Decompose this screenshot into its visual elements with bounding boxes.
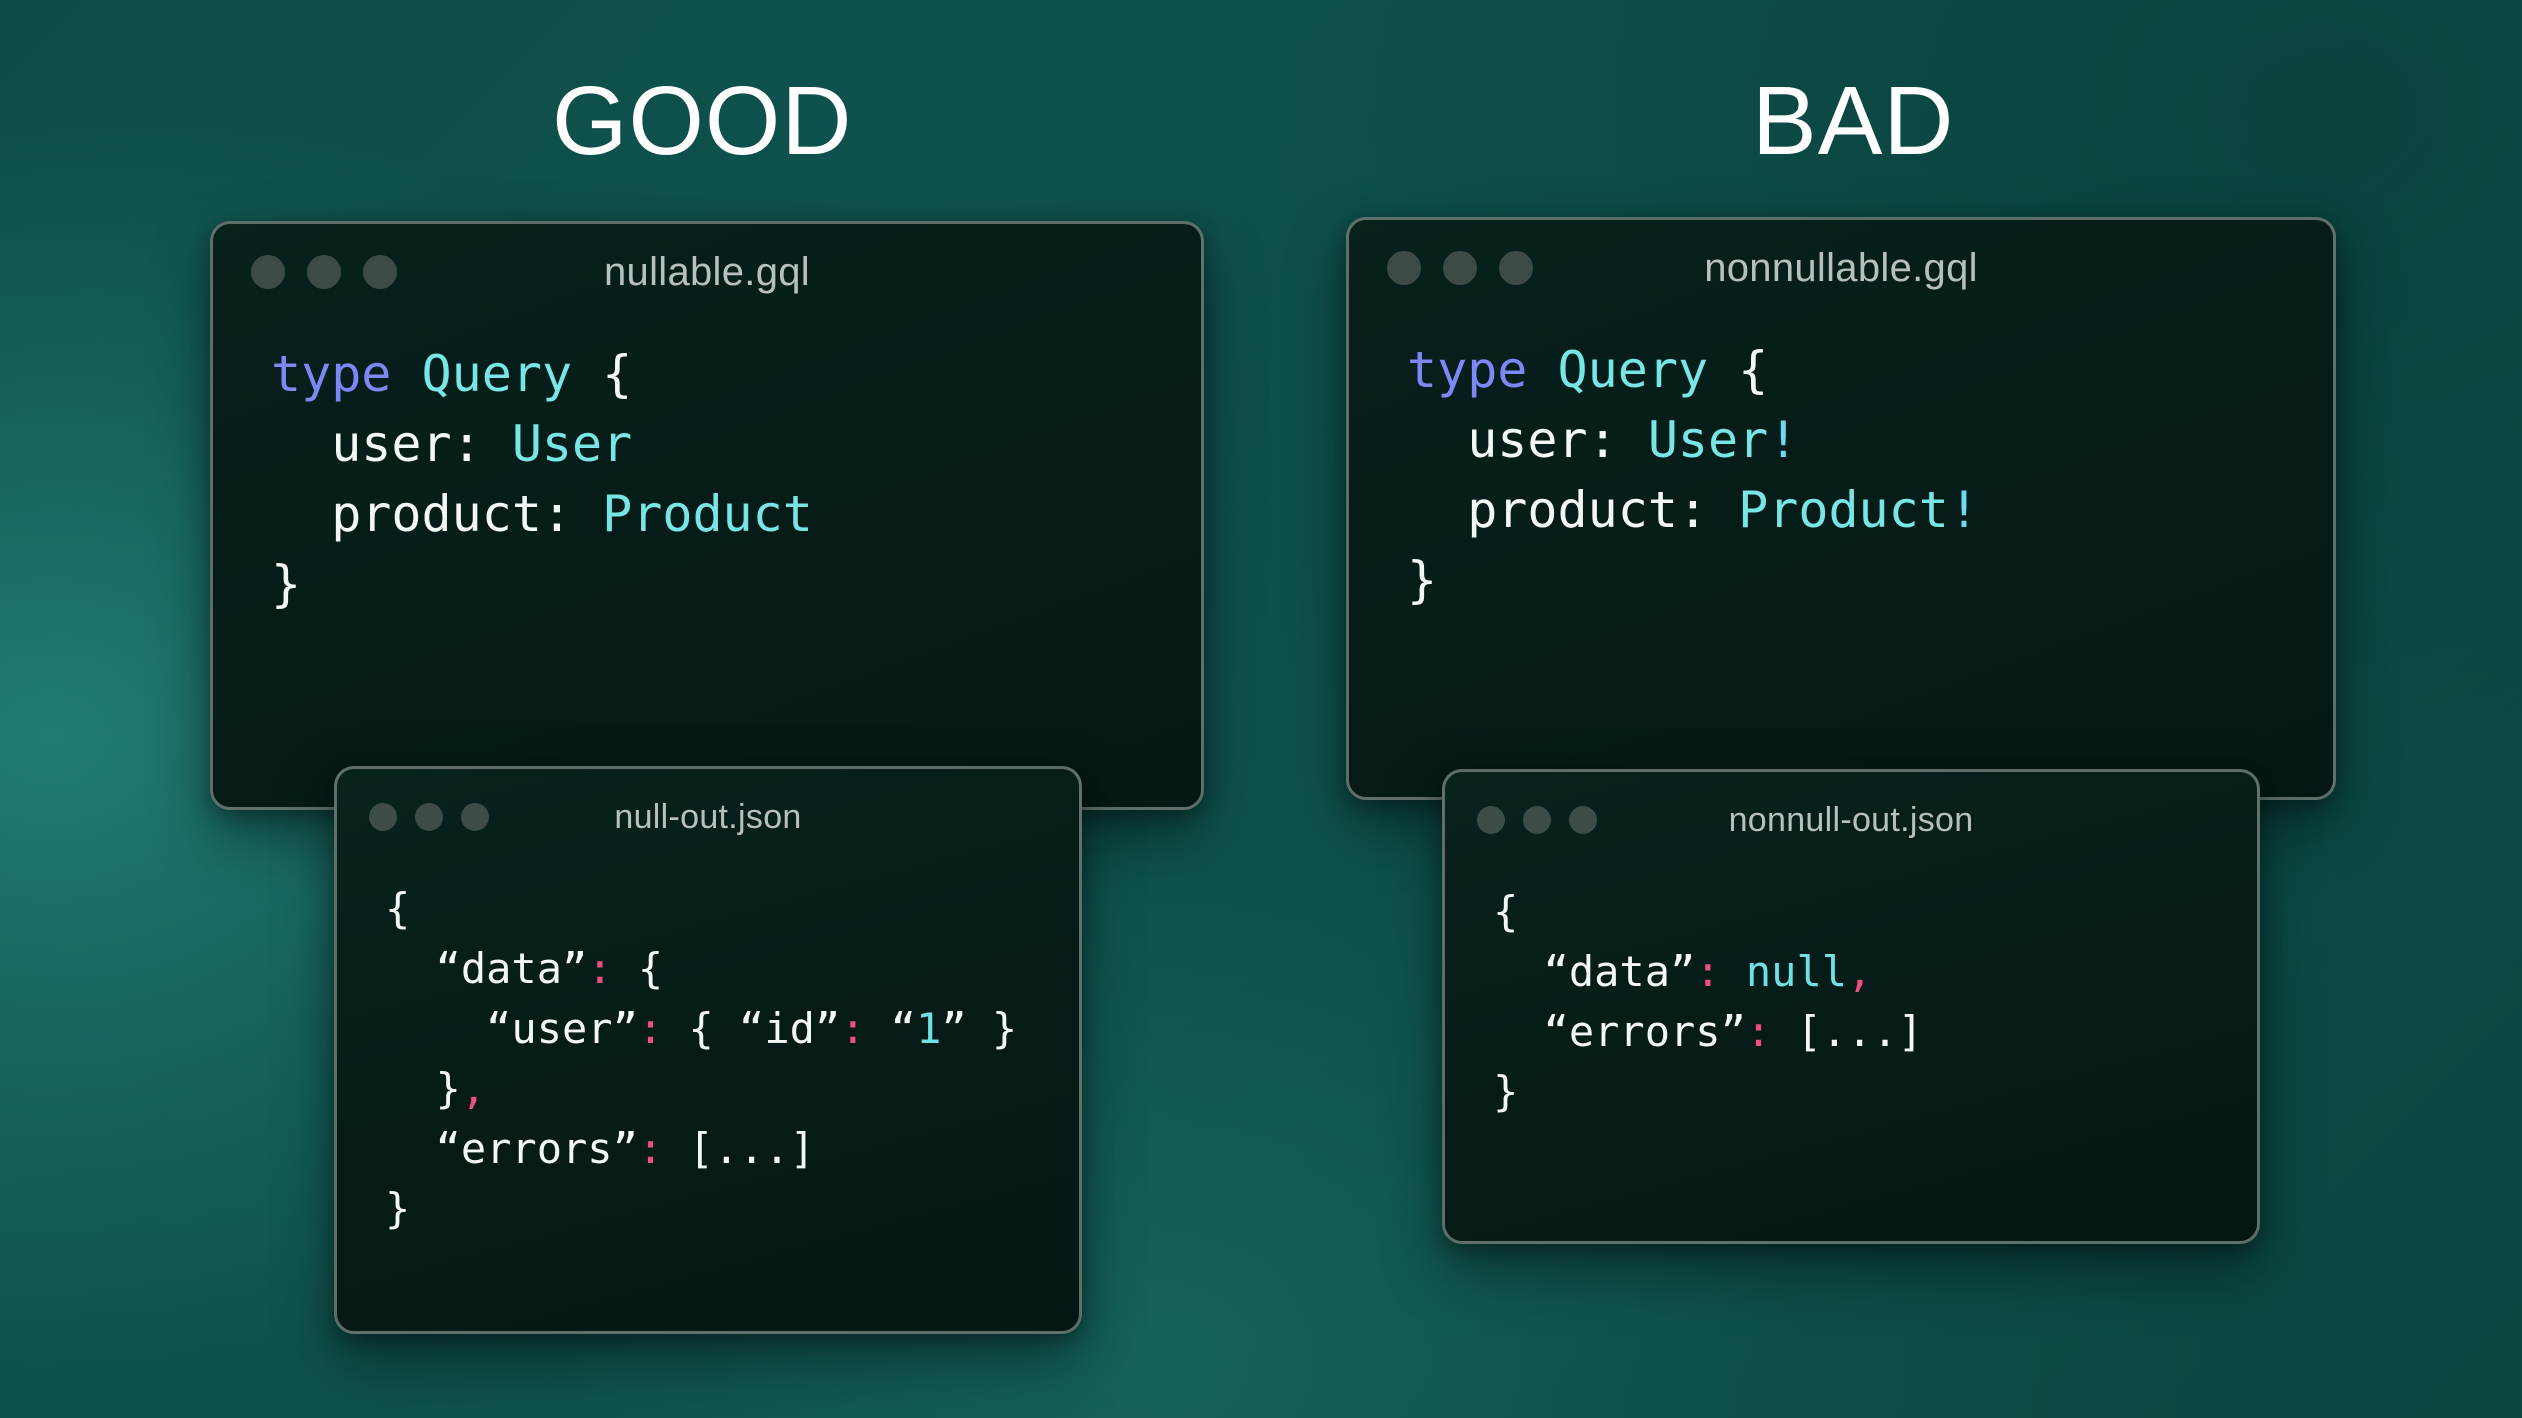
code-token: Query: [1558, 341, 1709, 399]
code-token: :: [638, 1124, 663, 1173]
code-line: “user”: { “id”: “1” }: [385, 1007, 1079, 1051]
code-token: !: [1768, 411, 1798, 469]
code-line: product: Product!: [1407, 484, 2333, 536]
code-window-null-out-json[interactable]: null-out.json { “data”: { “user”: { “id”…: [334, 766, 1082, 1334]
code-token: }: [385, 1064, 461, 1113]
code-token: }: [1407, 551, 1437, 609]
traffic-light-yellow-icon[interactable]: [415, 803, 443, 831]
code-token: :: [1695, 947, 1720, 996]
code-token: [...]: [663, 1124, 815, 1173]
traffic-lights: [251, 255, 397, 289]
titlebar-nonnull-out-json: nonnull-out.json: [1445, 772, 2257, 868]
code-line: “data”: null,: [1493, 950, 2257, 994]
code-token: “data”: [1493, 947, 1695, 996]
code-token: !: [1949, 481, 1979, 539]
code-line: {: [385, 887, 1079, 931]
code-token: user:: [1407, 411, 1648, 469]
traffic-light-red-icon[interactable]: [1387, 251, 1421, 285]
heading-bad: BAD: [1752, 72, 1954, 169]
traffic-light-red-icon[interactable]: [1477, 806, 1505, 834]
code-token: Product: [602, 485, 813, 543]
code-line: user: User!: [1407, 414, 2333, 466]
code-line: type Query {: [271, 348, 1201, 400]
code-token: “errors”: [385, 1124, 638, 1173]
code-token: :: [840, 1004, 865, 1053]
code-token: User: [1648, 411, 1768, 469]
code-token: {: [602, 345, 632, 403]
traffic-lights: [369, 803, 489, 831]
code-line: type Query {: [1407, 344, 2333, 396]
traffic-lights: [1477, 806, 1597, 834]
code-body: type Query { user: User! product: Produc…: [1349, 316, 2333, 606]
code-line: {: [1493, 890, 2257, 934]
traffic-light-red-icon[interactable]: [369, 803, 397, 831]
code-line: “errors”: [...]: [385, 1127, 1079, 1171]
code-token: {: [385, 884, 410, 933]
traffic-lights: [1387, 251, 1533, 285]
code-line: product: Product: [271, 488, 1201, 540]
code-token: “data”: [385, 944, 587, 993]
code-token: }: [385, 1184, 410, 1233]
code-token: ,: [1847, 947, 1872, 996]
code-token: type: [1407, 341, 1527, 399]
code-token: {: [613, 944, 664, 993]
code-token: 1: [916, 1004, 941, 1053]
code-line: “data”: {: [385, 947, 1079, 991]
code-line: user: User: [271, 418, 1201, 470]
code-token: {: [1493, 887, 1518, 936]
code-token: [391, 345, 421, 403]
code-token: product:: [1407, 481, 1738, 539]
code-token: “: [865, 1004, 916, 1053]
code-token: Query: [422, 345, 573, 403]
code-token: Product: [1738, 481, 1949, 539]
code-token: { “id”: [663, 1004, 840, 1053]
traffic-light-green-icon[interactable]: [1569, 806, 1597, 834]
traffic-light-green-icon[interactable]: [363, 255, 397, 289]
code-token: type: [271, 345, 391, 403]
code-body: { “data”: null, “errors”: [...]}: [1445, 868, 2257, 1114]
code-token: User: [512, 415, 632, 473]
code-token: null: [1746, 947, 1847, 996]
code-token: :: [1746, 1007, 1771, 1056]
traffic-light-yellow-icon[interactable]: [1523, 806, 1551, 834]
code-token: }: [1493, 1067, 1518, 1116]
code-line: }: [1407, 554, 2333, 606]
code-line: }: [385, 1187, 1079, 1231]
code-window-nonnullable-gql[interactable]: nonnullable.gql type Query { user: User!…: [1346, 217, 2336, 800]
code-token: [1527, 341, 1557, 399]
code-line: “errors”: [...]: [1493, 1010, 2257, 1054]
titlebar-nullable-gql: nullable.gql: [213, 224, 1201, 320]
code-body: { “data”: { “user”: { “id”: “1” } }, “er…: [337, 865, 1079, 1232]
code-token: [1721, 947, 1746, 996]
code-window-nonnull-out-json[interactable]: nonnull-out.json { “data”: null, “errors…: [1442, 769, 2260, 1244]
titlebar-nonnullable-gql: nonnullable.gql: [1349, 220, 2333, 316]
code-window-nullable-gql[interactable]: nullable.gql type Query { user: User pro…: [210, 221, 1204, 810]
code-token: :: [638, 1004, 663, 1053]
code-token: :: [587, 944, 612, 993]
traffic-light-yellow-icon[interactable]: [307, 255, 341, 289]
traffic-light-green-icon[interactable]: [461, 803, 489, 831]
heading-good: GOOD: [552, 72, 852, 169]
code-token: ” }: [941, 1004, 1017, 1053]
code-token: {: [1738, 341, 1768, 399]
traffic-light-red-icon[interactable]: [251, 255, 285, 289]
code-token: product:: [271, 485, 602, 543]
code-body: type Query { user: User product: Product…: [213, 320, 1201, 610]
code-token: ,: [461, 1064, 486, 1113]
code-token: [...]: [1771, 1007, 1923, 1056]
traffic-light-green-icon[interactable]: [1499, 251, 1533, 285]
code-token: [572, 345, 602, 403]
code-token: “user”: [385, 1004, 638, 1053]
titlebar-null-out-json: null-out.json: [337, 769, 1079, 865]
code-token: }: [271, 555, 301, 613]
code-token: [1708, 341, 1738, 399]
traffic-light-yellow-icon[interactable]: [1443, 251, 1477, 285]
code-line: }: [1493, 1070, 2257, 1114]
code-token: “errors”: [1493, 1007, 1746, 1056]
code-line: },: [385, 1067, 1079, 1111]
code-line: }: [271, 558, 1201, 610]
code-token: user:: [271, 415, 512, 473]
